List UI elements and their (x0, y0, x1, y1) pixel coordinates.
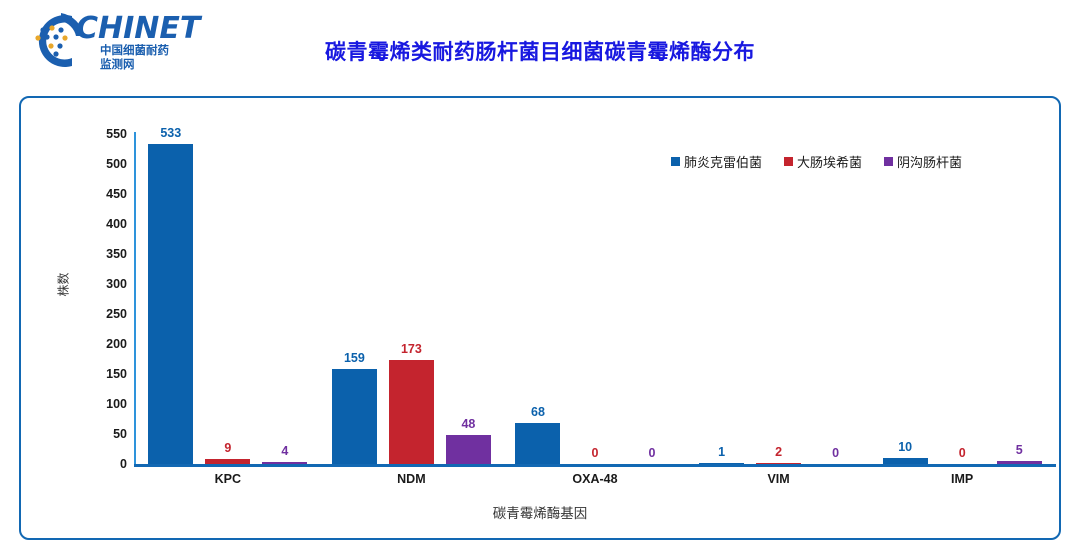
plot-area: 53394KPC15917348NDM6800OXA-48120VIM1005I… (136, 134, 1054, 464)
bar-slot: 0 (572, 134, 617, 464)
chart-frame: 肺炎克雷伯菌大肠埃希菌阴沟肠杆菌 株数 55050045040035030025… (19, 96, 1061, 540)
bar-value-label: 4 (262, 444, 307, 458)
bar-group-ndm: 15917348NDM (320, 134, 504, 464)
bar-imp-s3[interactable] (997, 461, 1042, 464)
bar-slot: 1 (699, 134, 744, 464)
bar-slot: 0 (629, 134, 674, 464)
x-category-label: OXA-48 (503, 472, 687, 486)
bar-group-kpc: 53394KPC (136, 134, 320, 464)
bar-value-label: 0 (572, 446, 617, 460)
page-title: 碳青霉烯类耐药肠杆菌目细菌碳青霉烯酶分布 (0, 36, 1080, 66)
bar-slot: 2 (756, 134, 801, 464)
bar-vim-s2[interactable] (756, 463, 801, 464)
bar-value-label: 68 (515, 405, 560, 419)
x-category-label: KPC (136, 472, 320, 486)
y-tick-label: 100 (71, 397, 127, 411)
bar-slot: 48 (446, 134, 491, 464)
bar-value-label: 0 (813, 446, 858, 460)
bar-value-label: 9 (205, 441, 250, 455)
bar-value-label: 10 (883, 440, 928, 454)
chart-page: CHINET 中国细菌耐药 监测网 碳青霉烯类耐药肠杆菌目细菌碳青霉烯酶分布 肺… (0, 0, 1080, 551)
x-axis-title: 碳青霉烯酶基因 (21, 502, 1059, 522)
bar-group-bars: 120 (687, 134, 871, 464)
x-axis-line (134, 464, 1056, 467)
y-tick-label: 0 (71, 457, 127, 471)
bar-slot: 10 (883, 134, 928, 464)
bar-group-bars: 1005 (870, 134, 1054, 464)
y-tick-label: 250 (71, 307, 127, 321)
bar-slot: 68 (515, 134, 560, 464)
bar-slot: 533 (148, 134, 193, 464)
bar-ndm-s2[interactable] (389, 360, 434, 464)
bar-value-label: 159 (332, 351, 377, 365)
bar-ndm-s3[interactable] (446, 435, 491, 464)
y-axis-ticks: 550500450400350300250200150100500 (71, 134, 127, 464)
bar-slot: 0 (813, 134, 858, 464)
y-tick-label: 400 (71, 217, 127, 231)
bar-group-oxa-48: 6800OXA-48 (503, 134, 687, 464)
bar-kpc-s3[interactable] (262, 462, 307, 464)
y-tick-label: 150 (71, 367, 127, 381)
x-category-label: NDM (320, 472, 504, 486)
y-tick-label: 350 (71, 247, 127, 261)
bar-slot: 5 (997, 134, 1042, 464)
y-tick-label: 450 (71, 187, 127, 201)
y-tick-label: 500 (71, 157, 127, 171)
bar-slot: 173 (389, 134, 434, 464)
y-tick-label: 200 (71, 337, 127, 351)
y-tick-label: 50 (71, 427, 127, 441)
bar-group-vim: 120VIM (687, 134, 871, 464)
bar-kpc-s1[interactable] (148, 144, 193, 464)
bar-value-label: 533 (148, 126, 193, 140)
bar-slot: 9 (205, 134, 250, 464)
bar-value-label: 0 (629, 446, 674, 460)
x-category-label: IMP (870, 472, 1054, 486)
bar-slot: 0 (940, 134, 985, 464)
bar-group-bars: 6800 (503, 134, 687, 464)
bar-ndm-s1[interactable] (332, 369, 377, 464)
bar-value-label: 173 (389, 342, 434, 356)
bar-slot: 159 (332, 134, 377, 464)
bar-group-imp: 1005IMP (870, 134, 1054, 464)
bar-group-bars: 15917348 (320, 134, 504, 464)
bar-vim-s1[interactable] (699, 463, 744, 464)
bar-value-label: 1 (699, 445, 744, 459)
bar-kpc-s2[interactable] (205, 459, 250, 464)
y-tick-label: 300 (71, 277, 127, 291)
bar-value-label: 2 (756, 445, 801, 459)
bar-imp-s1[interactable] (883, 458, 928, 464)
y-tick-label: 550 (71, 127, 127, 141)
bar-value-label: 0 (940, 446, 985, 460)
bar-slot: 4 (262, 134, 307, 464)
x-category-label: VIM (687, 472, 871, 486)
bar-oxa-48-s1[interactable] (515, 423, 560, 464)
bar-value-label: 5 (997, 443, 1042, 457)
bar-group-bars: 53394 (136, 134, 320, 464)
bar-value-label: 48 (446, 417, 491, 431)
y-axis-title: 株数 (55, 272, 72, 296)
